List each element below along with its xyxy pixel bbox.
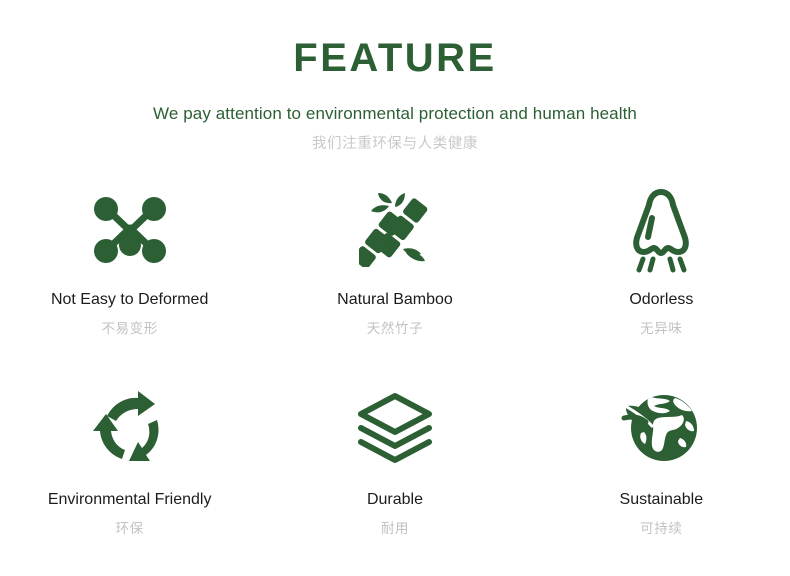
feature-label-en: Sustainable [620,490,704,509]
feature-item: Odorless 无异味 [527,178,790,374]
feature-item: Environmental Friendly 环保 [0,374,263,570]
globe-leaf-icon [620,380,702,476]
feature-label-cn: 可持续 [640,521,682,537]
feature-label-en: Durable [367,490,423,509]
feature-item: Durable 耐用 [263,374,526,570]
feature-label-cn: 耐用 [381,521,409,537]
nose-icon [626,184,696,276]
feature-label-en: Odorless [629,290,693,309]
feature-section: FEATURE We pay attention to environmenta… [0,0,790,576]
recycle-icon [91,380,169,476]
subtitle-chinese: 我们注重环保与人类健康 [0,136,790,153]
feature-grid: Not Easy to Deformed 不易变形 [0,178,790,570]
bamboo-icon [359,184,431,276]
feature-item: Sustainable 可持续 [527,374,790,570]
subtitle-english: We pay attention to environmental protec… [0,104,790,124]
feature-label-en: Environmental Friendly [48,490,212,509]
feature-label-cn: 无异味 [640,321,682,337]
feature-item: Not Easy to Deformed 不易变形 [0,178,263,374]
feature-item: Natural Bamboo 天然竹子 [263,178,526,374]
feature-label-cn: 环保 [116,521,144,537]
feature-label-cn: 不易变形 [101,321,157,337]
feature-label-en: Not Easy to Deformed [51,290,208,309]
page-title: FEATURE [0,36,790,80]
layers-stack-icon [355,380,435,476]
feature-header: FEATURE We pay attention to environmenta… [0,0,790,154]
molecule-nodes-icon [92,184,168,276]
feature-label-cn: 天然竹子 [367,321,423,337]
feature-label-en: Natural Bamboo [337,290,453,309]
